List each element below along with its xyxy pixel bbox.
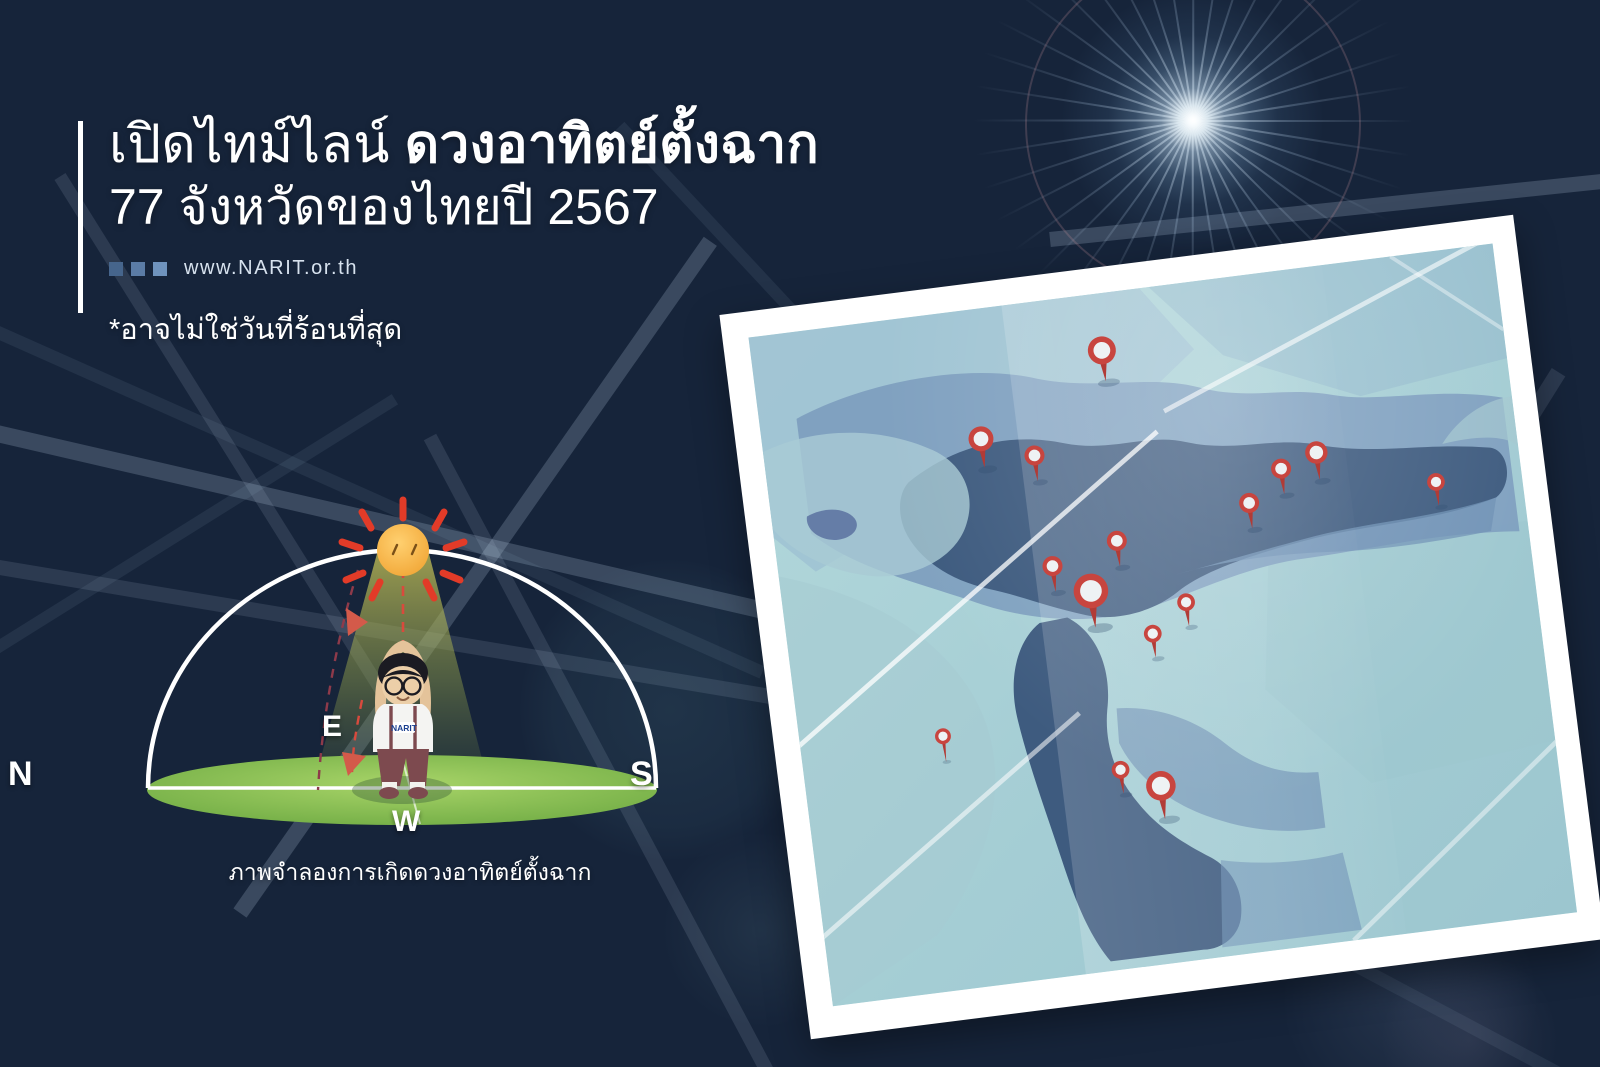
map-image bbox=[748, 244, 1577, 1007]
page-subtitle: 77 จังหวัดของไทยปี 2567 bbox=[109, 179, 819, 235]
svg-text:NARIT: NARIT bbox=[391, 723, 418, 733]
celestial-sphere-diagram: NARIT bbox=[90, 490, 790, 910]
page-title: เปิดไทม์ไลน์ ดวงอาทิตย์ตั้งฉาก bbox=[109, 117, 819, 173]
map-pin[interactable] bbox=[1233, 488, 1269, 537]
map-pin[interactable] bbox=[1067, 571, 1116, 636]
figure-shadow bbox=[352, 776, 452, 804]
cardinal-label-north: N bbox=[8, 755, 33, 794]
map-pin[interactable] bbox=[928, 722, 959, 769]
map-pin[interactable] bbox=[1036, 550, 1072, 599]
map-pin[interactable] bbox=[1082, 334, 1124, 390]
map-pin[interactable] bbox=[1100, 525, 1136, 574]
map-pin[interactable] bbox=[962, 422, 1002, 476]
map-pin[interactable] bbox=[1137, 620, 1170, 665]
map-pin[interactable] bbox=[1105, 754, 1138, 801]
footnote: *อาจไม่ใช่วันที่ร้อนที่สุด bbox=[109, 306, 819, 352]
cardinal-label-east: E bbox=[322, 710, 342, 744]
map-pin[interactable] bbox=[1420, 468, 1453, 513]
bullet-square-3-icon bbox=[153, 262, 167, 276]
map-pin[interactable] bbox=[1299, 436, 1337, 488]
lens-flare-ghost bbox=[1380, 950, 1560, 1067]
flare-core bbox=[1043, 0, 1343, 270]
title-light-part: เปิดไทม์ไลน์ bbox=[109, 115, 405, 174]
map-pin[interactable] bbox=[1265, 453, 1301, 502]
cardinal-label-south: S bbox=[630, 755, 653, 794]
title-bold-part: ดวงอาทิตย์ตั้งฉาก bbox=[405, 115, 819, 174]
website-url[interactable]: www.NARIT.or.th bbox=[184, 257, 358, 280]
diagram-caption: ภาพจำลองการเกิดดวงอาทิตย์ตั้งฉาก bbox=[200, 855, 620, 891]
map-pin[interactable] bbox=[1017, 440, 1053, 489]
website-row: www.NARIT.or.th bbox=[109, 257, 819, 280]
map-card[interactable] bbox=[719, 215, 1600, 1040]
map-pin[interactable] bbox=[1171, 588, 1204, 633]
bullet-square-1-icon bbox=[109, 262, 123, 276]
bullet-square-2-icon bbox=[131, 262, 145, 276]
cardinal-label-west: W bbox=[392, 805, 420, 839]
poster-canvas: เปิดไทม์ไลน์ ดวงอาทิตย์ตั้งฉาก 77 จังหวั… bbox=[0, 0, 1600, 1067]
map-pin[interactable] bbox=[1139, 767, 1184, 827]
sun-flare-icon bbox=[1043, 0, 1343, 270]
headline-block: เปิดไทม์ไลน์ ดวงอาทิตย์ตั้งฉาก 77 จังหวั… bbox=[78, 117, 819, 352]
